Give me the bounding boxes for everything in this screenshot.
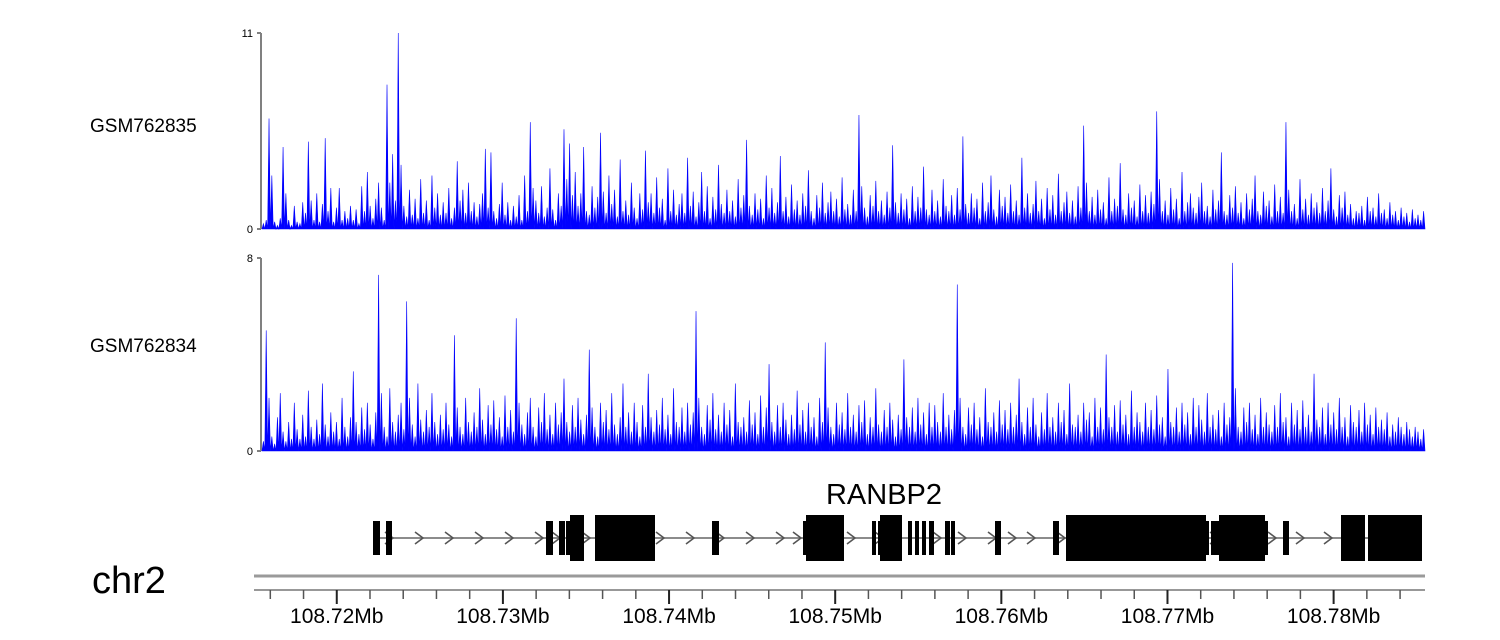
exon-thick[interactable] — [880, 515, 902, 561]
ruler-tick-label: 108.74Mb — [622, 605, 715, 628]
coverage-area-gsm762834 — [262, 263, 1425, 451]
ruler-tick-label: 108.77Mb — [1121, 605, 1214, 628]
coverage-path-gsm762834 — [262, 263, 1425, 451]
exon-thin[interactable] — [373, 521, 380, 555]
exon-thick[interactable] — [1368, 515, 1422, 561]
exon-thin[interactable] — [929, 521, 934, 555]
exon-thin[interactable] — [1053, 521, 1059, 555]
exon-thick[interactable] — [1219, 515, 1265, 561]
exon-thin[interactable] — [1203, 521, 1209, 555]
exon-thin[interactable] — [922, 521, 926, 555]
exon-thin[interactable] — [951, 521, 955, 555]
y-axis-line-gsm762834 — [257, 258, 261, 451]
y-axis-max-label-gsm762834: 8 — [247, 253, 253, 265]
y-axis-min-label-gsm762834: 0 — [247, 446, 253, 458]
track-label-gsm762834: GSM762834 — [90, 336, 197, 357]
exon-thin[interactable] — [712, 521, 719, 555]
coverage-path-gsm762835 — [262, 33, 1425, 229]
exon-thin[interactable] — [1262, 521, 1268, 555]
ruler-tick-label: 108.73Mb — [456, 605, 549, 628]
exon-thick[interactable] — [1341, 515, 1365, 561]
genome-coordinate-ruler — [254, 590, 1425, 604]
chromosome-label-group: chr2 — [92, 560, 166, 602]
exon-thick[interactable] — [1066, 515, 1166, 561]
gene-name-label-group: RANBP2 — [826, 479, 942, 511]
exon-thin[interactable] — [386, 521, 392, 555]
exon-thick[interactable] — [570, 515, 584, 561]
exon-thin[interactable] — [630, 521, 637, 555]
genome-browser-root: GSM762835GSM762834 110 80 RANBP2 108.72M… — [0, 0, 1500, 640]
ruler-tick-label-group: 108.72Mb108.73Mb108.74Mb108.75Mb108.76Mb… — [290, 605, 1380, 628]
ruler-tick-label: 108.76Mb — [955, 605, 1048, 628]
y-axis-min-label-gsm762835: 0 — [247, 224, 253, 236]
y-axis-max-label-gsm762835: 11 — [242, 28, 253, 40]
exon-thick[interactable] — [1166, 515, 1206, 561]
genome-browser-canvas: GSM762835GSM762834 110 80 RANBP2 108.72M… — [0, 0, 1500, 640]
track-label-group: GSM762835GSM762834 — [90, 116, 197, 357]
gene-model-track[interactable] — [373, 515, 1422, 561]
exon-thick[interactable] — [806, 515, 844, 561]
ruler-tick-label: 108.78Mb — [1287, 605, 1380, 628]
gene-name-label: RANBP2 — [826, 479, 942, 511]
y-axis-line-gsm762835 — [257, 33, 261, 229]
track-label-gsm762835: GSM762835 — [90, 116, 197, 137]
exon-thin[interactable] — [872, 521, 876, 555]
track-axis-gsm762835: 110 — [242, 28, 261, 236]
exon-thin[interactable] — [1283, 521, 1289, 555]
exon-thin[interactable] — [995, 521, 1001, 555]
ruler-tick-label: 108.75Mb — [788, 605, 881, 628]
exon-thin[interactable] — [915, 521, 919, 555]
ruler-tick-label: 108.72Mb — [290, 605, 383, 628]
exon-thin[interactable] — [546, 521, 553, 555]
exon-thin[interactable] — [559, 521, 565, 555]
track-axis-gsm762834: 80 — [247, 253, 261, 458]
exon-thin[interactable] — [1211, 521, 1216, 555]
chromosome-label: chr2 — [92, 560, 166, 602]
coverage-area-gsm762835 — [262, 33, 1425, 229]
exon-thin[interactable] — [945, 521, 950, 555]
exon-thin[interactable] — [648, 521, 654, 555]
exon-thin[interactable] — [908, 521, 912, 555]
